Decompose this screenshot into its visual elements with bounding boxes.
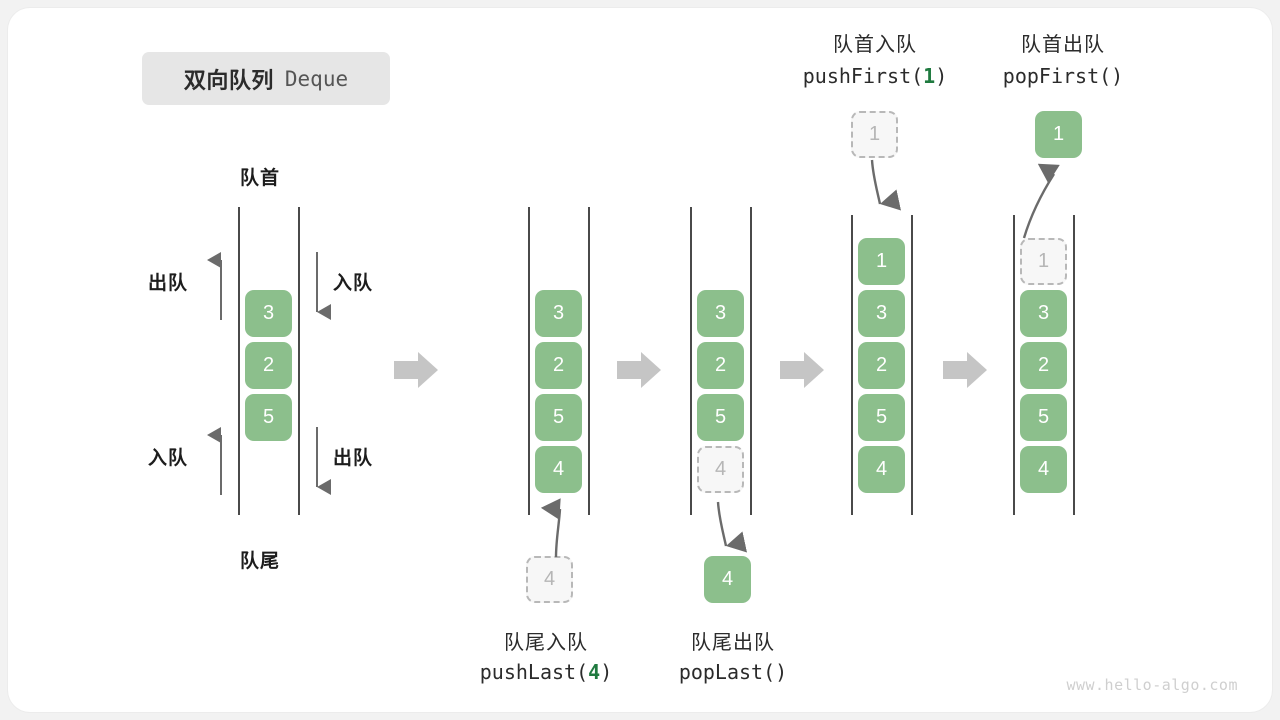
caption-code-pop-last: popLast() [633,660,833,684]
rail-right [298,207,300,515]
stack-cell: 2 [535,342,582,389]
stack-cell: 4 [1020,446,1067,493]
stack-pop-first: 1 3 2 5 4 [1013,215,1075,515]
stack-cell: 3 [858,290,905,337]
watermark: www.hello-algo.com [1066,676,1238,694]
flow-arrow-2 [617,350,661,390]
stack-cell: 2 [245,342,292,389]
stack-cell: 5 [535,394,582,441]
flow-arrow-4 [943,350,987,390]
code-prefix: popLast( [679,660,775,684]
detached-cell: 4 [704,556,751,603]
rail-right [1073,215,1075,515]
code-suffix: ) [935,64,947,88]
code-prefix: pushFirst( [803,64,923,88]
label-enqueue-tail: 入队 [148,443,188,470]
label-tail: 队尾 [240,546,280,573]
rail-right [588,207,590,515]
arrow-pop-last [692,500,752,562]
code-prefix: popFirst( [1003,64,1111,88]
stack-pop-last: 3 2 5 4 [690,207,752,515]
stack-cell: 2 [858,342,905,389]
arrow-push-first [845,158,905,220]
code-suffix: ) [775,660,787,684]
code-arg: 1 [923,64,935,88]
title-badge: 双向队列 Deque [142,52,390,105]
caption-code-pop-first: popFirst() [963,64,1163,88]
arrow-dequeue-tail-down [302,425,332,497]
caption-cn-pop-first: 队首出队 [978,28,1148,57]
flow-arrow-3 [780,350,824,390]
stack-ghost-cell: 4 [697,446,744,493]
stack-cell: 1 [858,238,905,285]
stack-cell: 5 [1020,394,1067,441]
label-head: 队首 [240,163,280,190]
stack-cell: 2 [697,342,744,389]
stack-push-last: 3 2 5 4 [528,207,590,515]
caption-cn-push-first: 队首入队 [790,28,960,57]
rail-left [238,207,240,515]
stack-cell: 3 [697,290,744,337]
stack-cell: 3 [535,290,582,337]
rail-left [1013,215,1015,515]
arrow-enqueue-head-down [302,250,332,322]
stack-push-first: 1 3 2 5 4 [851,215,913,515]
diagram-canvas: 双向队列 Deque 队首 队尾 出队 入队 入队 出队 3 2 [0,0,1280,720]
flow-arrow-1 [394,350,438,390]
arrow-enqueue-tail-up [206,425,236,497]
caption-cn-pop-last: 队尾出队 [648,626,818,655]
rail-left [690,207,692,515]
label-enqueue-head: 入队 [333,268,373,295]
title-english: Deque [285,67,348,91]
stack-initial-deque: 3 2 5 [238,207,300,515]
stack-cell: 5 [858,394,905,441]
stack-cell: 3 [245,290,292,337]
code-prefix: pushLast( [480,660,588,684]
caption-code-push-first: pushFirst(1) [770,64,980,88]
stack-cell: 4 [535,446,582,493]
rail-left [851,215,853,515]
detached-ghost-cell: 4 [526,556,573,603]
caption-code-push-last: pushLast(4) [441,660,651,684]
label-dequeue-tail: 出队 [333,443,373,470]
code-suffix: ) [600,660,612,684]
arrow-push-last [530,495,590,561]
stack-ghost-cell: 1 [1020,238,1067,285]
stack-cell: 5 [245,394,292,441]
title-chinese: 双向队列 [184,63,274,95]
stack-cell: 2 [1020,342,1067,389]
code-arg: 4 [588,660,600,684]
arrow-dequeue-head-up [206,250,236,322]
caption-cn-push-last: 队尾入队 [461,626,631,655]
code-suffix: ) [1111,64,1123,88]
rail-left [528,207,530,515]
stack-cell: 4 [858,446,905,493]
label-dequeue-head: 出队 [148,268,188,295]
rail-right [911,215,913,515]
detached-cell: 1 [1035,111,1082,158]
stack-cell: 5 [697,394,744,441]
rail-right [750,207,752,515]
detached-ghost-cell: 1 [851,111,898,158]
stack-cell: 3 [1020,290,1067,337]
